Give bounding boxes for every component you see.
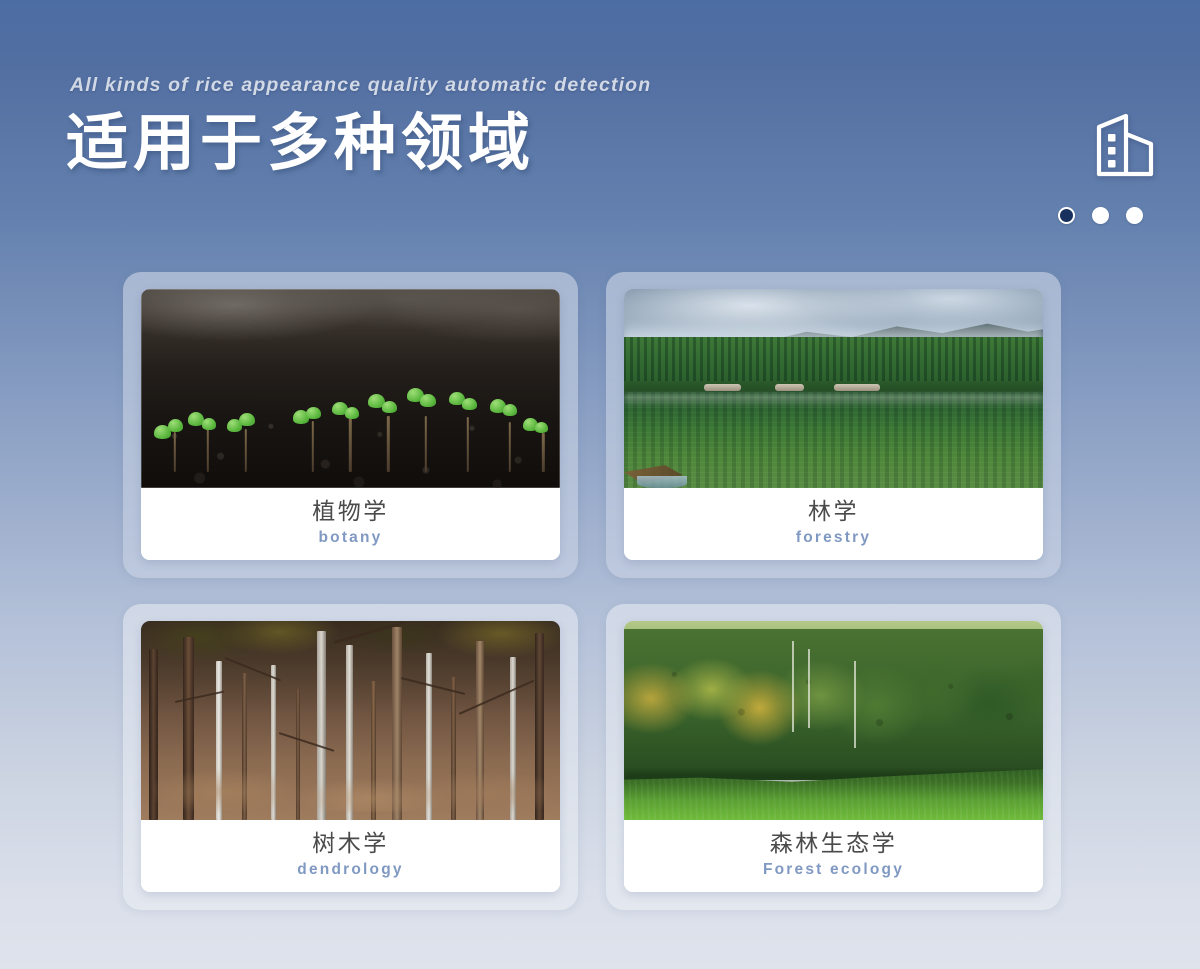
carousel-dot-1[interactable]	[1058, 207, 1075, 224]
domain-card-botany[interactable]: 植物学 botany	[141, 289, 560, 560]
card-image-autumn-birch-forest	[141, 621, 560, 820]
domain-card-forestry[interactable]: 林学 forestry	[624, 289, 1043, 560]
carousel-dot-2[interactable]	[1092, 207, 1109, 224]
card-image-forest-edge-with-meadow	[624, 621, 1043, 820]
card-title-cn: 林学	[808, 497, 859, 526]
card-image-forested-mountain-lake	[624, 289, 1043, 488]
carousel-dot-3[interactable]	[1126, 207, 1143, 224]
card-title-en: Forest ecology	[763, 861, 904, 879]
card-title-cn: 树木学	[312, 829, 389, 858]
card-frame-forestry: 林学 forestry	[606, 272, 1061, 578]
card-frame-botany: 植物学 botany	[123, 272, 578, 578]
page-kicker: All kinds of rice appearance quality aut…	[70, 74, 651, 97]
card-caption: 森林生态学 Forest ecology	[624, 820, 1043, 892]
domain-card-grid: 植物学 botany	[123, 272, 1061, 910]
card-frame-dendrology: 树木学 dendrology	[123, 604, 578, 910]
card-frame-forest-ecology: 森林生态学 Forest ecology	[606, 604, 1061, 910]
card-title-cn: 植物学	[312, 497, 389, 526]
card-caption: 林学 forestry	[624, 488, 1043, 560]
card-caption: 植物学 botany	[141, 488, 560, 560]
carousel-dots[interactable]	[1058, 200, 1154, 230]
card-title-en: dendrology	[297, 861, 403, 879]
card-caption: 树木学 dendrology	[141, 820, 560, 892]
building-icon	[1090, 112, 1160, 178]
card-image-seedlings-in-dark-soil	[141, 289, 560, 488]
card-title-en: forestry	[796, 529, 871, 547]
card-title-cn: 森林生态学	[770, 829, 898, 858]
page-title: 适用于多种领域	[66, 113, 535, 175]
domain-card-forest-ecology[interactable]: 森林生态学 Forest ecology	[624, 621, 1043, 892]
page-header: All kinds of rice appearance quality aut…	[0, 0, 1200, 250]
card-title-en: botany	[318, 529, 382, 547]
domain-card-dendrology[interactable]: 树木学 dendrology	[141, 621, 560, 892]
